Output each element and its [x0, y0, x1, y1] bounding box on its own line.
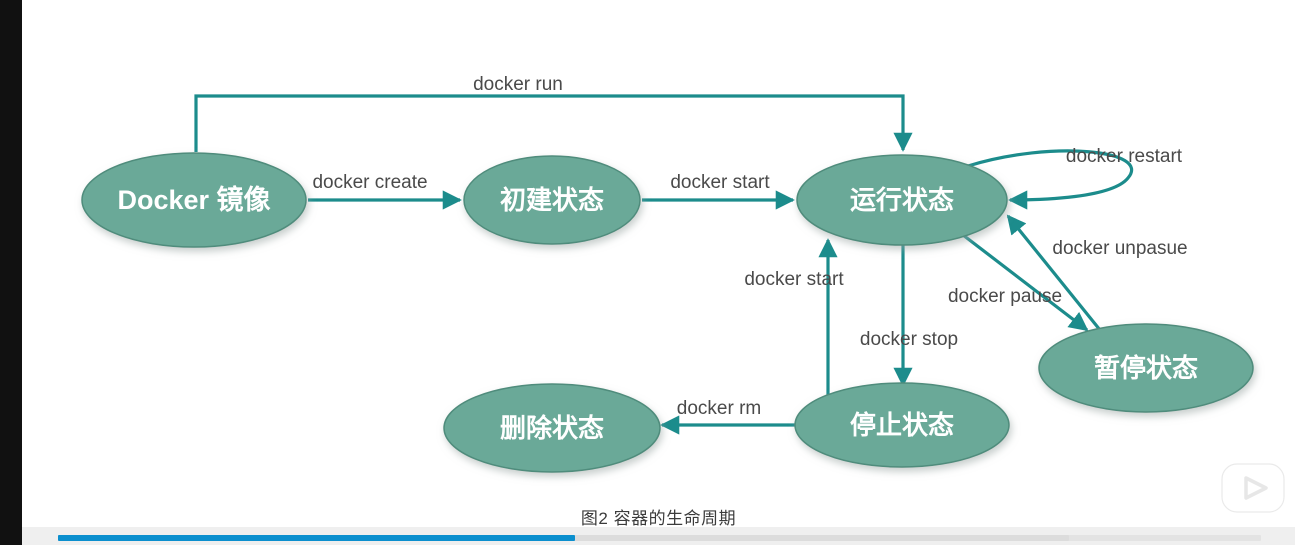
node-created-state[interactable]: 初建状态 [464, 156, 640, 244]
edge-label-docker-rm: docker rm [677, 398, 761, 419]
player-pillarbox-left [0, 527, 22, 545]
edge-label-docker-unpause: docker unpasue [1052, 238, 1187, 259]
node-label: 停止状态 [850, 410, 954, 440]
tv-play-logo-icon [1212, 452, 1294, 524]
edges-layer [196, 96, 1132, 425]
node-label: Docker 镜像 [117, 185, 270, 215]
slide-canvas: Docker 镜像 初建状态 运行状态 暂停状态 停止状态 [22, 0, 1295, 545]
node-label: 初建状态 [500, 185, 604, 215]
node-label: 运行状态 [850, 185, 954, 215]
edge-docker-run [196, 96, 903, 152]
edge-docker-unpause [1008, 216, 1100, 330]
edge-label-docker-restart: docker restart [1066, 146, 1183, 167]
edge-label-docker-stop: docker stop [860, 329, 958, 350]
node-label: 暂停状态 [1094, 353, 1198, 383]
node-stopped-state[interactable]: 停止状态 [795, 383, 1009, 467]
pillarbox-left [0, 0, 22, 545]
figure-caption: 图2 容器的生命周期 [22, 504, 1295, 529]
edge-label-docker-run: docker run [473, 74, 563, 95]
node-removed-state[interactable]: 删除状态 [444, 384, 660, 472]
node-running-state[interactable]: 运行状态 [797, 155, 1007, 245]
edge-label-docker-start-2: docker start [744, 269, 844, 290]
node-paused-state[interactable]: 暂停状态 [1039, 324, 1253, 412]
node-label: 删除状态 [500, 413, 604, 443]
edge-label-docker-create: docker create [312, 172, 427, 193]
video-player-bar[interactable] [0, 527, 1295, 545]
progress-track[interactable] [58, 535, 1261, 541]
video-frame: Docker 镜像 初建状态 运行状态 暂停状态 停止状态 [0, 0, 1295, 545]
progress-played [58, 535, 575, 541]
node-docker-image[interactable]: Docker 镜像 [82, 153, 306, 247]
edge-label-docker-pause: docker pause [948, 286, 1062, 307]
container-lifecycle-diagram: Docker 镜像 初建状态 运行状态 暂停状态 停止状态 [22, 0, 1295, 545]
edge-label-docker-start-1: docker start [670, 172, 770, 193]
